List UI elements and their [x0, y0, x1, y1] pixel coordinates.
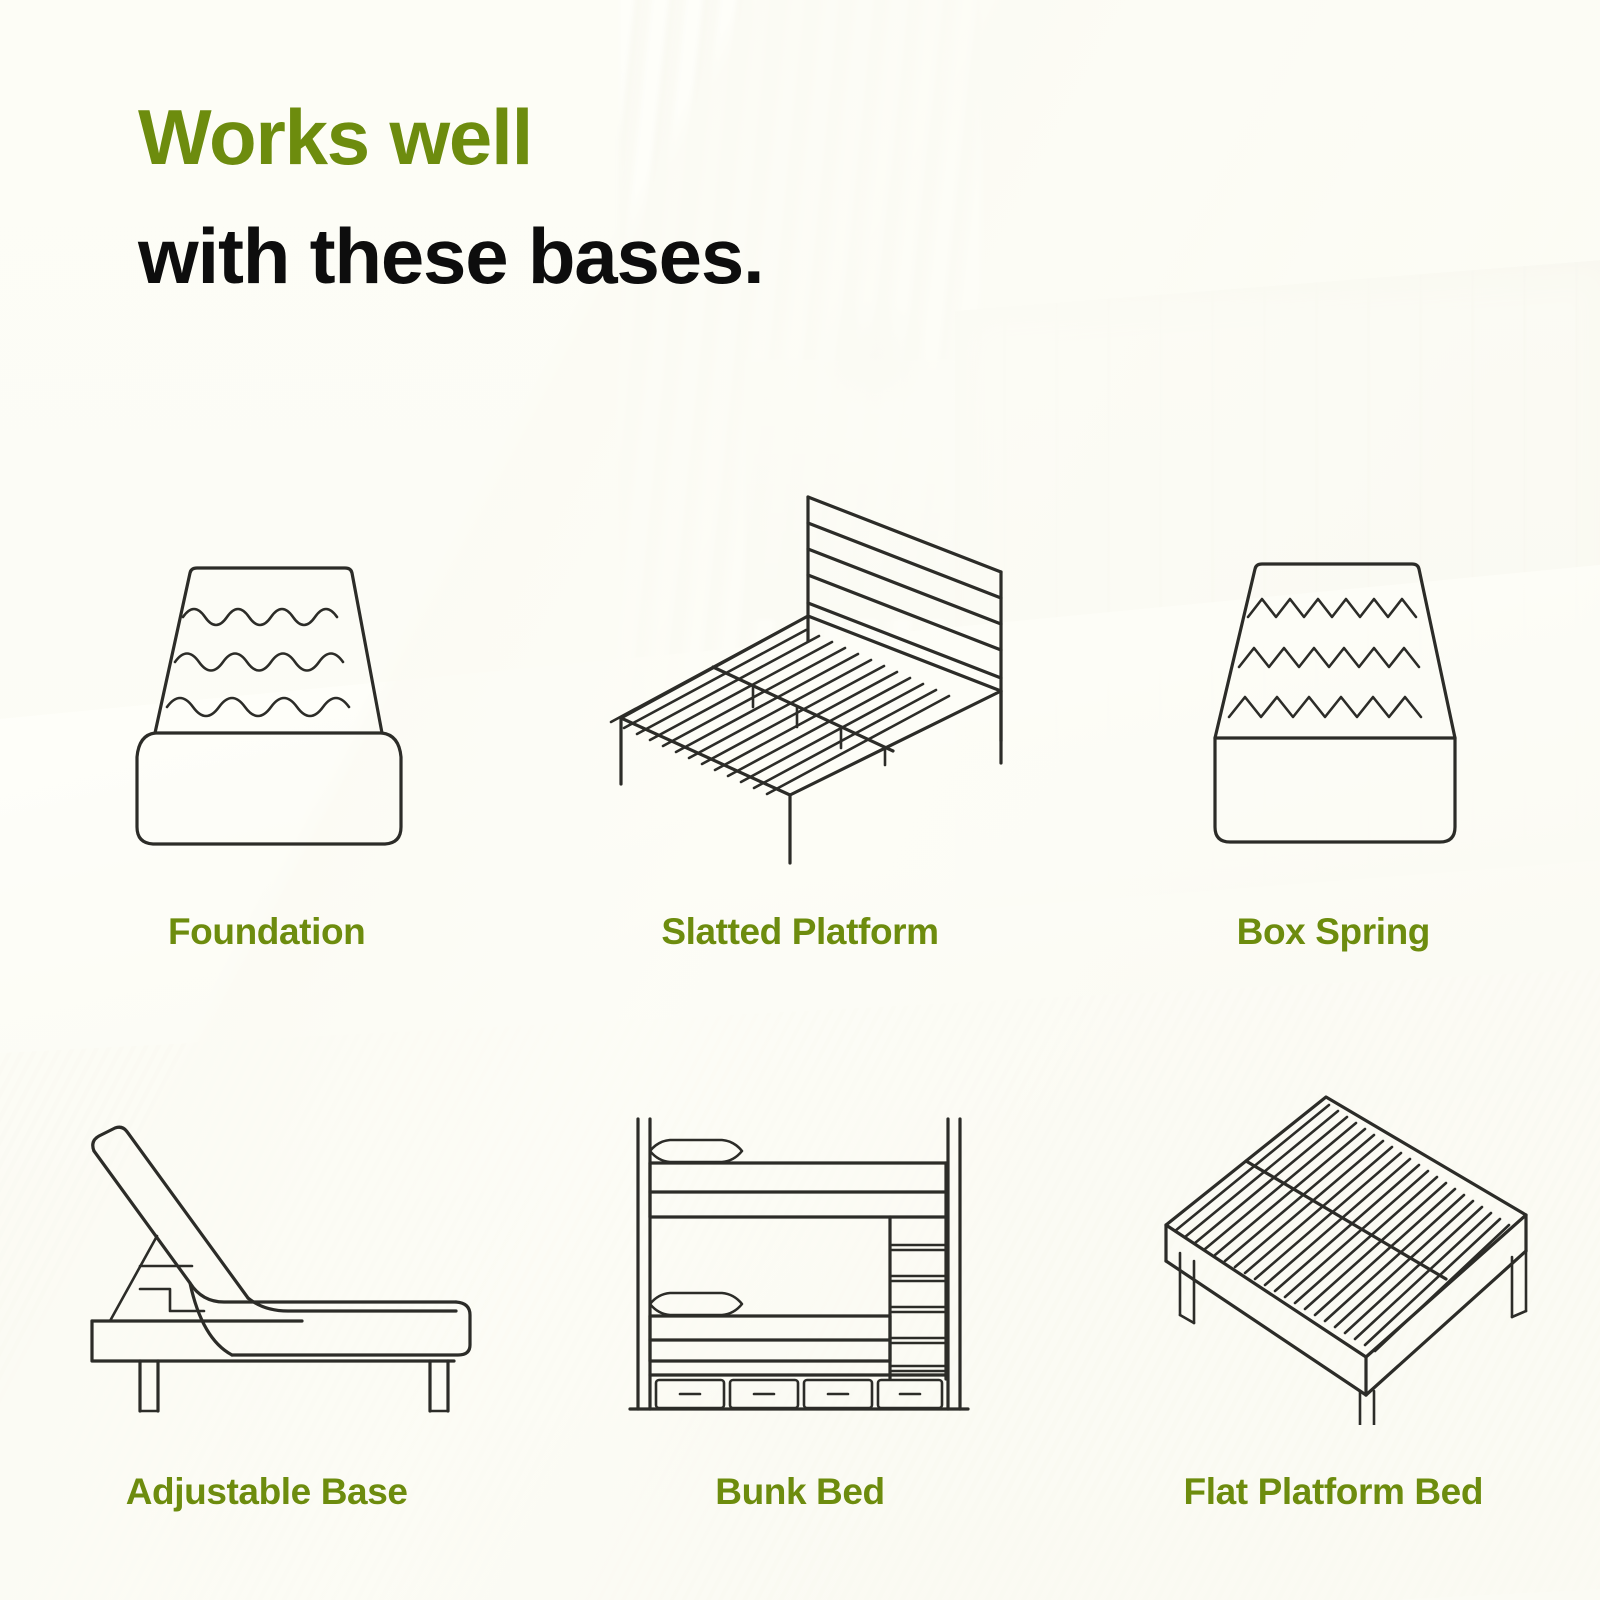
base-card-adjustable-base[interactable]: Adjustable Base — [0, 950, 533, 1510]
base-card-flat-platform-bed[interactable]: Flat Platform Bed — [1067, 950, 1600, 1510]
base-types-row-1: Foundation — [0, 420, 1600, 950]
base-label-box-spring: Box Spring — [1237, 913, 1430, 950]
foundation-illustration — [0, 420, 533, 875]
flat-platform-bed-illustration — [1067, 950, 1600, 1429]
page-title: Works well with these bases. — [138, 78, 1038, 315]
base-label-foundation: Foundation — [168, 913, 365, 950]
base-types-grid: Foundation — [0, 420, 1600, 1510]
base-label-adjustable-base: Adjustable Base — [126, 1473, 408, 1510]
base-label-flat-platform-bed: Flat Platform Bed — [1184, 1473, 1484, 1510]
base-types-row-2: Adjustable Base — [0, 950, 1600, 1510]
promo-graphic-canvas: Works well with these bases. — [0, 0, 1600, 1600]
content-layer: Works well with these bases. — [0, 0, 1600, 1600]
base-card-slatted-platform[interactable]: Slatted Platform — [533, 420, 1066, 950]
headline-line-two: with these bases. — [138, 197, 1038, 316]
base-card-foundation[interactable]: Foundation — [0, 420, 533, 950]
base-label-slatted-platform: Slatted Platform — [661, 913, 938, 950]
flat-platform-bed-icon — [1118, 1065, 1548, 1425]
adjustable-base-icon — [52, 1083, 482, 1423]
mattress-on-foundation-icon — [77, 535, 457, 865]
base-card-box-spring[interactable]: Box Spring — [1067, 420, 1600, 950]
base-card-bunk-bed[interactable]: Bunk Bed — [533, 950, 1066, 1510]
adjustable-base-illustration — [0, 950, 533, 1429]
base-label-bunk-bed: Bunk Bed — [715, 1473, 884, 1510]
bunk-bed-illustration — [533, 950, 1066, 1429]
headline-line-one: Works well — [138, 78, 1038, 197]
box-spring-illustration — [1067, 420, 1600, 875]
slatted-platform-bed-frame-icon — [585, 475, 1015, 875]
mattress-on-box-spring-icon — [1143, 533, 1523, 863]
slatted-platform-illustration — [533, 420, 1066, 875]
bunk-bed-icon — [610, 1089, 990, 1429]
